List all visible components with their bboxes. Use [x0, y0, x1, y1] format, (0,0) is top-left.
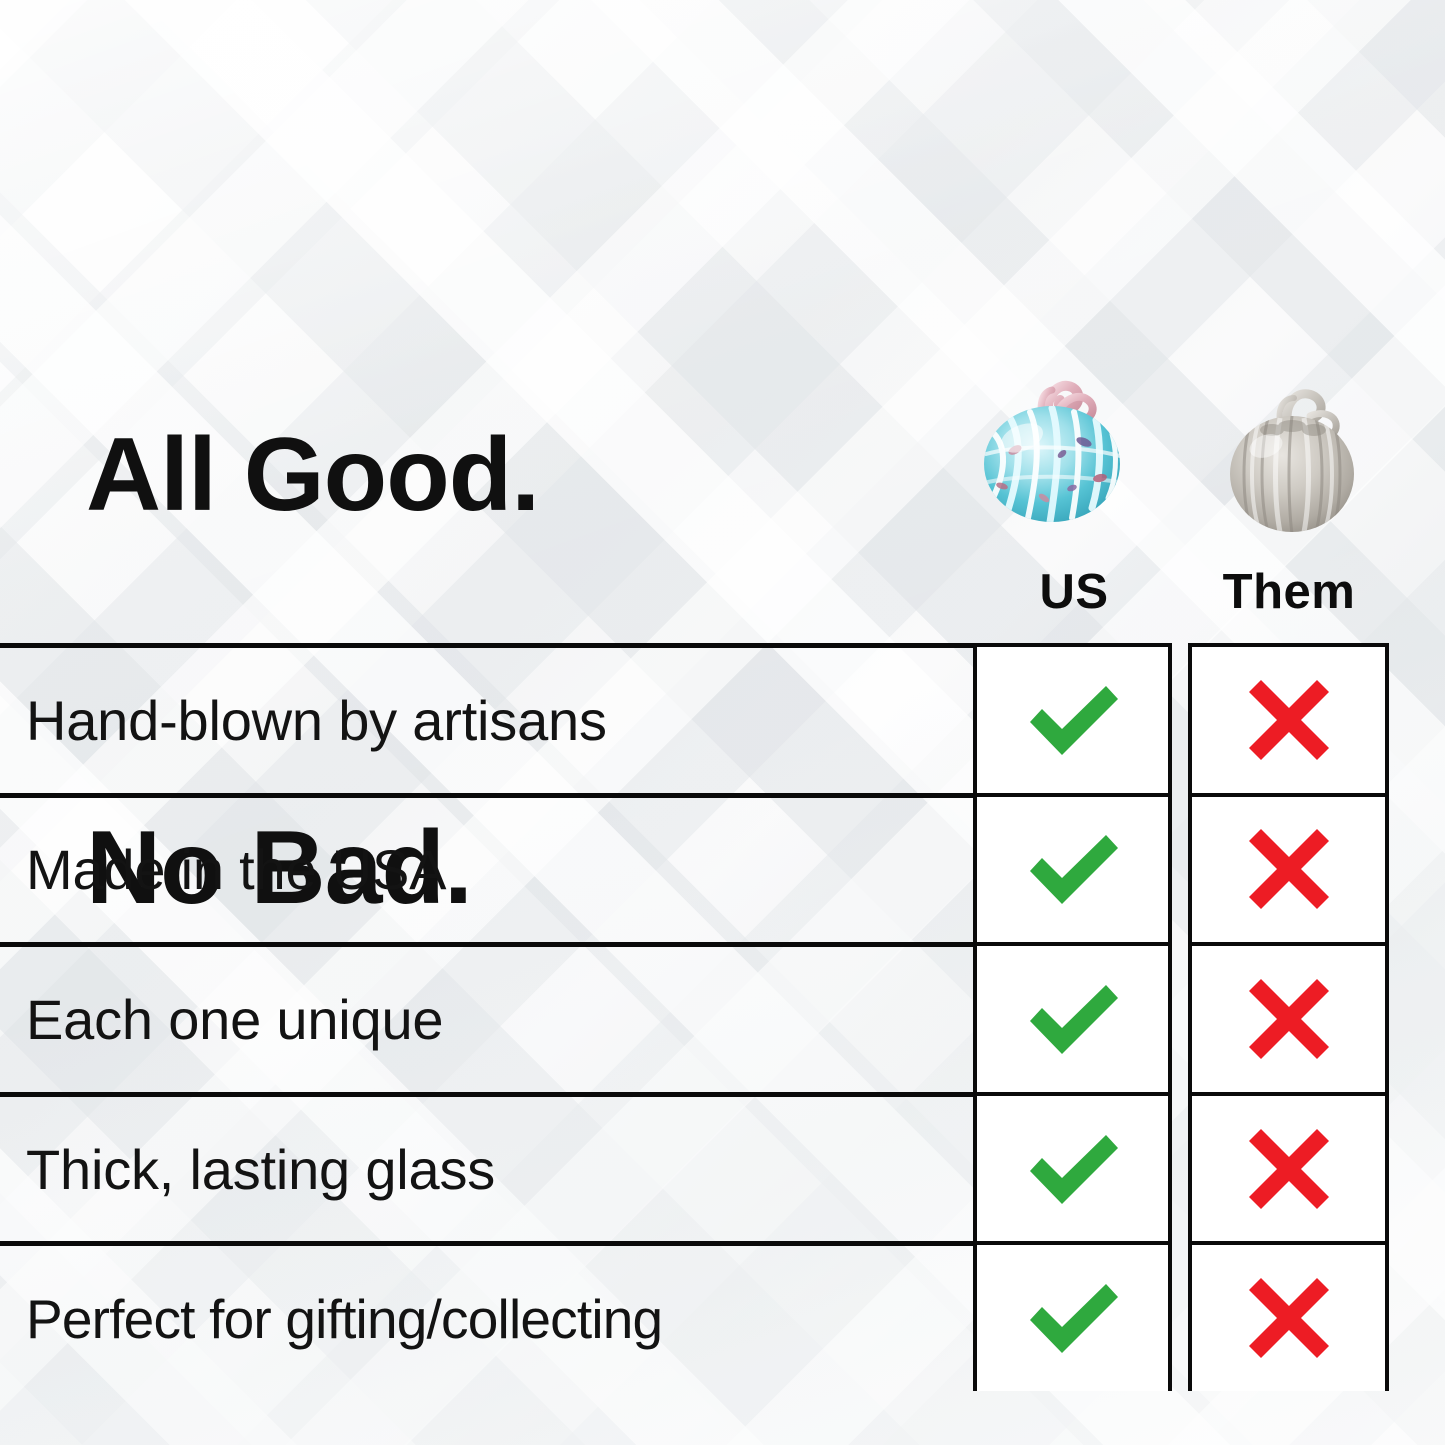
- feature-cell: Thick, lasting glass: [0, 1092, 973, 1242]
- feature-label: Thick, lasting glass: [0, 1137, 495, 1202]
- green-checkmark-icon: [1018, 975, 1128, 1063]
- red-cross-icon: [1243, 1272, 1335, 1364]
- green-checkmark-icon: [1018, 825, 1128, 913]
- headline-line-1: All Good.: [86, 410, 539, 541]
- feature-label: Made in the USA: [0, 837, 446, 902]
- feature-label: Perfect for gifting/collecting: [0, 1287, 662, 1351]
- us-mark-cell: [973, 1241, 1172, 1391]
- green-checkmark-icon: [1018, 1125, 1128, 1213]
- red-cross-icon: [1243, 973, 1335, 1065]
- green-checkmark-icon: [1018, 676, 1128, 764]
- us-mark-cell: [973, 942, 1172, 1092]
- red-cross-icon: [1243, 823, 1335, 915]
- comparison-infographic: All Good. No Bad.: [0, 0, 1445, 1445]
- them-mark-cell: [1188, 942, 1389, 1092]
- comparison-table: Hand-blown by artisans Made in the USA: [0, 643, 1389, 1391]
- us-mark-cell: [973, 1092, 1172, 1242]
- feature-label: Hand-blown by artisans: [0, 688, 607, 753]
- feature-cell: Each one unique: [0, 942, 973, 1092]
- them-mark-cell: [1188, 1092, 1389, 1242]
- us-mark-cell: [973, 643, 1172, 793]
- us-mark-cell: [973, 793, 1172, 943]
- feature-cell: Perfect for gifting/collecting: [0, 1241, 973, 1391]
- green-checkmark-icon: [1018, 1274, 1128, 1362]
- column-divider-gap: [1172, 643, 1188, 1391]
- red-cross-icon: [1243, 674, 1335, 766]
- column-header-us: US: [975, 564, 1173, 620]
- feature-cell: Hand-blown by artisans: [0, 643, 973, 793]
- column-header-them: Them: [1189, 564, 1389, 620]
- feature-label: Each one unique: [0, 987, 443, 1052]
- them-mark-cell: [1188, 793, 1389, 943]
- red-cross-icon: [1243, 1123, 1335, 1215]
- us-product-image: [952, 358, 1152, 538]
- them-mark-cell: [1188, 1241, 1389, 1391]
- them-product-image: [1192, 370, 1392, 550]
- feature-cell: Made in the USA: [0, 793, 973, 943]
- them-mark-cell: [1188, 643, 1389, 793]
